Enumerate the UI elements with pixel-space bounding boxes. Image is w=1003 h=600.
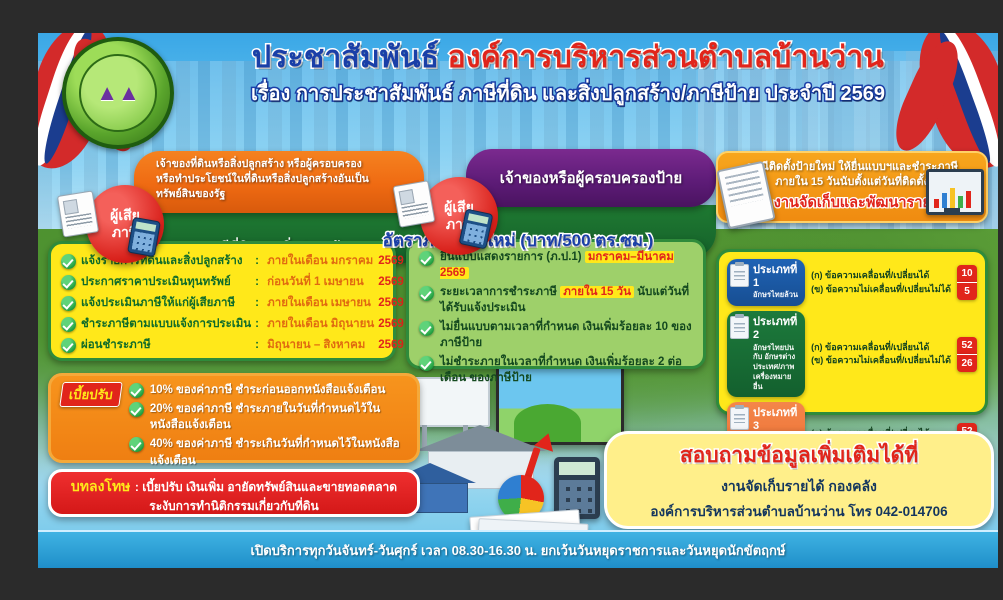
rate-row-category-2: ประเภทที่ 2 อักษรไทยปนกับ อักษรต่างประเท… xyxy=(727,311,977,397)
punishment-tag: บทลงโทษ xyxy=(71,478,131,494)
schedule-separator: : xyxy=(255,339,263,351)
schedule-separator: : xyxy=(255,276,263,288)
poster-header: ประชาสัมพันธ์ องค์การบริหารส่วนตำบลบ้านว… xyxy=(148,41,988,109)
clipboard-icon xyxy=(730,316,749,339)
rate-table-title: อัตราภาษีป้ายใหม่ (บาท/500 ตร.ซม.) xyxy=(38,227,998,254)
check-icon xyxy=(129,383,144,398)
schedule-separator: : xyxy=(255,318,263,330)
schedule-row: ชำระภาษีตามแบบแจ้งการประเมิน xyxy=(61,315,251,333)
sign-point-row: ระยะเวลาการชำระภาษี ภายใน 15 วัน นับแต่ว… xyxy=(419,285,693,316)
land-tax-schedule-box: แจ้งรายการที่ดินและสิ่งปลูกสร้าง : ภายใน… xyxy=(48,241,396,361)
sign-owner-banner: เจ้าของหรือผู้ครอบครองป้าย xyxy=(466,149,716,207)
land-owner-banner: เจ้าของที่ดินหรือสิ่งปลูกสร้าง หรือผู้คร… xyxy=(134,151,424,213)
schedule-when: ภายในเดือน เมษายน xyxy=(267,294,374,312)
document-icon-left xyxy=(57,190,99,237)
punishment-text: บทลงโทษ : เบี้ยปรับ เงินเพิ่ม อายัดทรัพย… xyxy=(61,476,407,514)
schedule-task: ชำระภาษีตามแบบแจ้งการประเมิน xyxy=(81,315,251,333)
screenshot-stage: ▲▲ ประชาสัมพันธ์ องค์การบริหารส่วนตำบลบ้… xyxy=(0,0,1003,600)
rate-value: 26 xyxy=(957,354,977,372)
schedule-task: แจ้งประเมินภาษีให้แก่ผู้เสียภาษี xyxy=(81,294,235,312)
fine-item-text: 40% ของค่าภาษี ชำระเกินวันที่กำหนดไว้ในห… xyxy=(150,436,407,469)
rate-line: (ข) ข้อความไม่เคลื่อนที่/เปลี่ยนไม่ได้ xyxy=(811,283,951,297)
rate-row-category-1: ประเภทที่ 1 อักษรไทยล้วน (ก) ข้อความเคลื… xyxy=(727,259,977,306)
infographic-poster: ▲▲ ประชาสัมพันธ์ องค์การบริหารส่วนตำบลบ้… xyxy=(38,33,998,568)
schedule-separator: : xyxy=(255,297,263,309)
emblem-inner-ring: ▲▲ xyxy=(79,54,157,132)
contact-line-2: องค์การบริหารส่วนตำบลบ้านว่าน โทร 042-01… xyxy=(650,500,947,522)
sign-point-text: ยื่นแบบแสดงรายการ (ภ.ป.1) มกราคม–มีนาคม … xyxy=(440,250,693,281)
sign-rate-table-box: ประเภทที่ 1 อักษรไทยล้วน (ก) ข้อความเคลื… xyxy=(716,249,988,415)
land-tax-schedule-grid: แจ้งรายการที่ดินและสิ่งปลูกสร้าง : ภายใน… xyxy=(61,252,383,354)
page-subtitle: เรื่อง การประชาสัมพันธ์ ภาษีที่ดิน และสิ… xyxy=(148,77,988,109)
schedule-task: ประกาศราคาประเมินทุนทรัพย์ xyxy=(81,273,231,291)
land-owner-line-3: ทรัพย์สินของรัฐ xyxy=(156,187,414,202)
rate-value: 10 xyxy=(957,265,977,282)
rate-category-1-values: 10 5 xyxy=(957,265,977,300)
schedule-when: ก่อนวันที่ 1 เมษายน xyxy=(267,273,374,291)
rate-line: (ก) ข้อความเคลื่อนที่/เปลี่ยนได้ xyxy=(811,341,951,355)
schedule-when: มิถุนายน – สิงหาคม xyxy=(267,336,374,354)
contact-heading: สอบถามข้อมูลเพิ่มเติมได้ที่ xyxy=(680,439,918,472)
schedule-when: ภายในเดือน มิถุนายน xyxy=(267,315,374,333)
sign-owner-text: เจ้าของหรือผู้ครอบครองป้าย xyxy=(500,166,682,190)
rate-category-1-rows: (ก) ข้อความเคลื่อนที่/เปลี่ยนได้ (ข) ข้อ… xyxy=(811,269,951,296)
check-icon xyxy=(129,402,144,417)
fine-item-text: 20% ของค่าภาษี ชำระภายในวันที่กำหนดไว้ใน… xyxy=(150,401,407,434)
schedule-row: ผ่อนชำระภาษี xyxy=(61,336,251,354)
sign-point-row: ไม่ชำระภายในเวลาที่กำหนด เงินเพิ่มร้อยละ… xyxy=(419,355,693,386)
document-icon-middle xyxy=(393,180,436,228)
land-owner-line-2: หรือทำประโยชน์ในที่ดินหรือสิ่งปลูกสร้างอ… xyxy=(156,172,414,187)
schedule-separator: : xyxy=(255,255,263,267)
clipboard-icon xyxy=(730,264,749,287)
fine-items: 10% ของค่าภาษี ชำระก่อนออกหนังสือแจ้งเตื… xyxy=(129,382,407,471)
fine-item-text: 10% ของค่าภาษี ชำระก่อนออกหนังสือแจ้งเตื… xyxy=(150,382,386,399)
rate-category-2-values: 52 26 xyxy=(957,337,977,372)
fine-item-row: 40% ของค่าภาษี ชำระเกินวันที่กำหนดไว้ในห… xyxy=(129,436,407,469)
fine-tag: เบี้ยปรับ xyxy=(59,382,122,407)
rate-value: 52 xyxy=(957,337,977,354)
punishment-line-2: ระงับการทำนิติกรรมเกี่ยวกับที่ดิน xyxy=(61,498,407,514)
page-title: ประชาสัมพันธ์ องค์การบริหารส่วนตำบลบ้านว… xyxy=(148,41,988,75)
schedule-row: แจ้งรายการที่ดินและสิ่งปลูกสร้าง xyxy=(61,252,251,270)
land-owner-line-1: เจ้าของที่ดินหรือสิ่งปลูกสร้าง หรือผู้คร… xyxy=(156,157,414,172)
rate-line: (ก) ข้อความเคลื่อนที่/เปลี่ยนได้ xyxy=(811,269,951,283)
schedule-task: ผ่อนชำระภาษี xyxy=(81,336,151,354)
check-icon xyxy=(129,437,144,452)
check-icon xyxy=(419,356,434,371)
fine-item-row: 20% ของค่าภาษี ชำระภายในวันที่กำหนดไว้ใน… xyxy=(129,401,407,434)
check-icon xyxy=(61,275,76,290)
fine-group: เบี้ยปรับ 10% ของค่าภาษี ชำระก่อนออกหนัง… xyxy=(61,382,407,471)
sign-point-text: ระยะเวลาการชำระภาษี ภายใน 15 วัน นับแต่ว… xyxy=(440,285,693,316)
sign-point-text: ไม่ยื่นแบบตามเวลาที่กำหนด เงินเพิ่มร้อยล… xyxy=(440,320,693,351)
schedule-when: ภายในเดือน มกราคม xyxy=(267,252,374,270)
schedule-row: แจ้งประเมินภาษีให้แก่ผู้เสียภาษี xyxy=(61,294,251,312)
rate-category-1-heading: ประเภทที่ 1 xyxy=(753,264,799,290)
title-red-part: องค์การบริหารส่วนตำบลบ้านว่าน xyxy=(448,41,884,74)
contact-line-1: งานจัดเก็บรายได้ กองคลัง xyxy=(721,476,877,498)
organization-emblem: ▲▲ xyxy=(62,37,174,149)
sign-point-highlight: ภายใน 15 วัน xyxy=(560,286,634,298)
title-blue-part: ประชาสัมพันธ์ xyxy=(252,41,439,74)
clipboard-icon xyxy=(730,407,749,430)
rate-category-2-rows: (ก) ข้อความเคลื่อนที่/เปลี่ยนได้ (ข) ข้อ… xyxy=(811,341,951,368)
rate-category-1-label: ประเภทที่ 1 อักษรไทยล้วน xyxy=(727,259,805,306)
fine-item-row: 10% ของค่าภาษี ชำระก่อนออกหนังสือแจ้งเตื… xyxy=(129,382,407,399)
check-icon xyxy=(61,338,76,353)
emblem-glyph-icon: ▲▲ xyxy=(96,80,140,106)
office-hours-text: เปิดบริการทุกวันจันทร์-วันศุกร์ เวลา 08.… xyxy=(251,540,786,561)
sign-point-text: ไม่ชำระภายในเวลาที่กำหนด เงินเพิ่มร้อยละ… xyxy=(440,355,693,386)
check-icon xyxy=(61,254,76,269)
footer-bar: เปิดบริการทุกวันจันทร์-วันศุกร์ เวลา 08.… xyxy=(38,530,998,568)
check-icon xyxy=(61,296,76,311)
rate-line: (ข) ข้อความไม่เคลื่อนที่/เปลี่ยนไม่ได้ xyxy=(811,354,951,368)
monitor-bars-icon xyxy=(934,186,971,208)
rate-category-1-sub: อักษรไทยล้วน xyxy=(753,290,799,300)
rate-category-2-label: ประเภทที่ 2 อักษรไทยปนกับ อักษรต่างประเท… xyxy=(727,311,805,397)
schedule-row: ประกาศราคาประเมินทุนทรัพย์ xyxy=(61,273,251,291)
sign-point-row: ไม่ยื่นแบบตามเวลาที่กำหนด เงินเพิ่มร้อยล… xyxy=(419,320,693,351)
rate-category-2-heading: ประเภทที่ 2 xyxy=(753,316,799,342)
rate-category-3-heading: ประเภทที่ 3 xyxy=(753,407,799,433)
check-icon xyxy=(419,286,434,301)
contact-box: สอบถามข้อมูลเพิ่มเติมได้ที่ งานจัดเก็บรา… xyxy=(604,431,994,529)
punishment-line-1: : เบี้ยปรับ เงินเพิ่ม อายัดทรัพย์สินและข… xyxy=(135,480,397,494)
sign-point-pre: ระยะเวลาการชำระภาษี xyxy=(440,286,557,298)
check-icon xyxy=(419,321,434,336)
sign-tax-points-box: ยื่นแบบแสดงรายการ (ภ.ป.1) มกราคม–มีนาคม … xyxy=(406,239,706,369)
punishment-box: บทลงโทษ : เบี้ยปรับ เงินเพิ่ม อายัดทรัพย… xyxy=(48,469,420,517)
rate-category-2-sub: อักษรไทยปนกับ อักษรต่างประเทศ/ภาพ เครื่อ… xyxy=(753,343,799,392)
monitor-stand xyxy=(944,208,960,215)
check-icon xyxy=(61,317,76,332)
rate-value: 5 xyxy=(957,282,977,300)
penalty-box: เบี้ยปรับ 10% ของค่าภาษี ชำระก่อนออกหนัง… xyxy=(48,373,420,463)
